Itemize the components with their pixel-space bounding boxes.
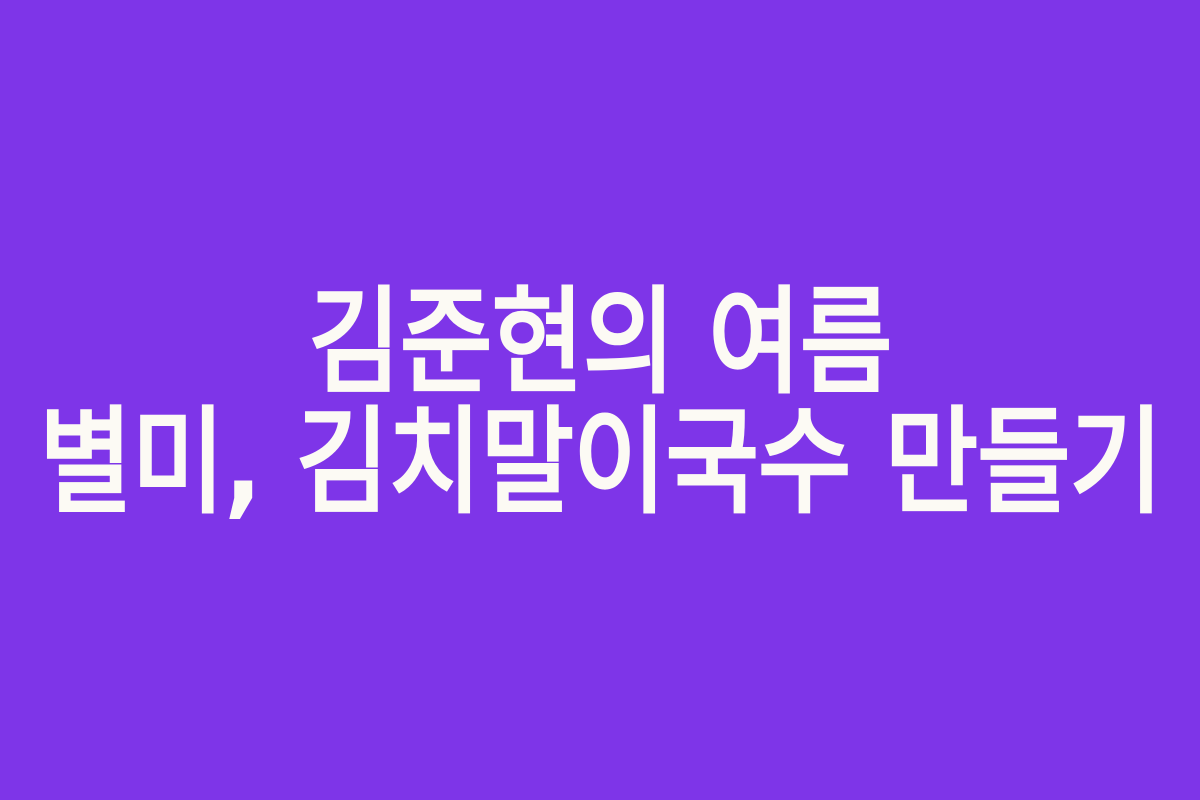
page-title: 김준현의 여름 별미, 김치말이국수 만들기 xyxy=(0,290,1200,514)
title-card: 김준현의 여름 별미, 김치말이국수 만들기 xyxy=(0,0,1200,800)
title-line-1: 김준현의 여름 xyxy=(309,284,892,400)
title-line-2: 별미, 김치말이국수 만들기 xyxy=(39,404,1162,520)
